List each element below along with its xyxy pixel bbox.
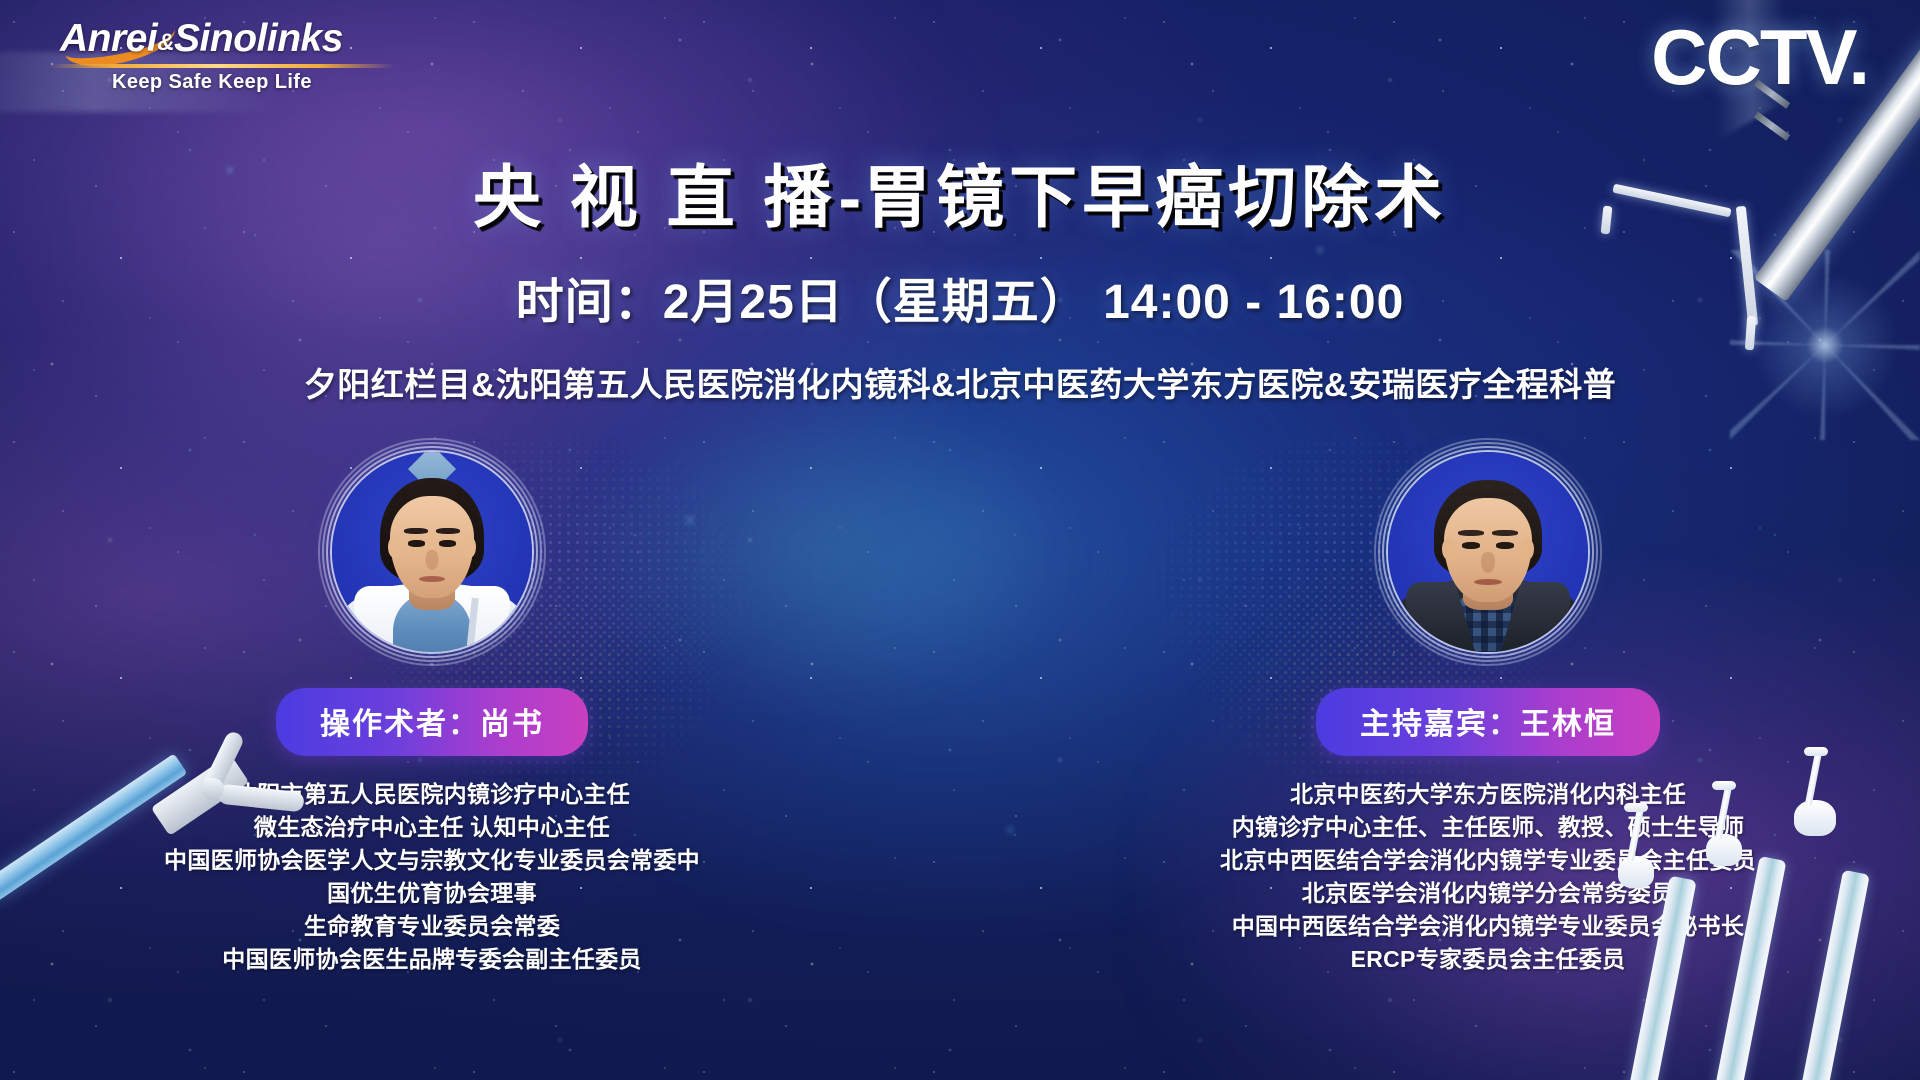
eye-right	[439, 540, 456, 547]
list-item: 中国医师协会医学人文与宗教文化专业委员会常委中	[112, 844, 752, 877]
list-item: 生命教育专业委员会常委	[112, 910, 752, 943]
cctv-logo: CCTV.	[1651, 14, 1868, 100]
ear-left	[388, 536, 401, 558]
list-item: 国优生优育协会理事	[112, 877, 752, 910]
brand-wordmark-sinolinks: Sinolinks	[174, 17, 343, 60]
brand-logo-anrei-sinolinks: Anrei&Sinolinks Keep Safe Keep Life	[60, 16, 380, 94]
brand-wordmark-anrei: Anrei	[60, 17, 157, 60]
eye-left	[1462, 542, 1480, 549]
credential-list: 北京中医药大学东方医院消化内科主任 内镜诊疗中心主任、主任医师、教授、硕士生导师…	[1168, 778, 1808, 976]
mouth	[419, 576, 445, 582]
nose	[1481, 552, 1495, 573]
status-badge-operator: 操作术者：尚书	[276, 688, 588, 756]
eyebrow-left	[404, 528, 428, 534]
avatar-photo-host	[1388, 452, 1588, 652]
credential-list: 沈阳市第五人民医院内镜诊疗中心主任 微生态治疗中心主任 认知中心主任 中国医师协…	[112, 778, 752, 976]
list-item: 北京中医药大学东方医院消化内科主任	[1168, 778, 1808, 811]
poster-canvas: Anrei&Sinolinks Keep Safe Keep Life CCTV…	[0, 0, 1920, 1080]
nose	[426, 550, 439, 570]
face	[390, 496, 474, 598]
mouth	[1474, 579, 1502, 585]
page-title-main: 央 视 直 播	[473, 160, 837, 236]
eyebrow-right	[436, 528, 460, 534]
eye-right	[1496, 542, 1514, 549]
list-item: 北京中西医结合学会消化内镜学专业委员会主任委员	[1168, 844, 1808, 877]
list-item: 北京医学会消化内镜学分会常务委员	[1168, 877, 1808, 910]
ear-right	[463, 536, 476, 558]
eyebrow-left	[1458, 530, 1484, 536]
list-item: 沈阳市第五人民医院内镜诊疗中心主任	[112, 778, 752, 811]
list-item: 中国中西医结合学会消化内镜学专业委员会秘书长	[1168, 910, 1808, 943]
list-item: 微生态治疗中心主任 认知中心主任	[112, 811, 752, 844]
brand-wordmark: Anrei&Sinolinks	[60, 16, 380, 66]
brand-tagline: Keep Safe Keep Life	[112, 71, 312, 94]
avatar	[332, 452, 532, 652]
brand-divider-rule	[50, 64, 395, 68]
ear-left	[1442, 538, 1455, 560]
eyebrow-right	[1492, 530, 1518, 536]
page-title-dash: -	[839, 160, 862, 236]
avatar-photo-operator	[332, 452, 532, 652]
person-card-operator: 操作术者：尚书 沈阳市第五人民医院内镜诊疗中心主任 微生态治疗中心主任 认知中心…	[112, 452, 752, 976]
event-time: 时间：2月25日（星期五） 14:00 - 16:00	[0, 262, 1920, 332]
list-item: 中国医师协会医生品牌专委会副主任委员	[112, 943, 752, 976]
face	[1444, 498, 1532, 602]
list-item: ERCP专家委员会主任委员	[1168, 943, 1808, 976]
list-item: 内镜诊疗中心主任、主任医师、教授、硕士生导师	[1168, 811, 1808, 844]
eye-left	[408, 540, 425, 547]
brand-wordmark-ampersand: &	[157, 29, 174, 56]
page-title: 央 视 直 播-胃镜下早癌切除术	[0, 142, 1920, 241]
event-organizers: 夕阳红栏目&沈阳第五人民医院消化内镜科&北京中医药大学东方医院&安瑞医疗全程科普	[0, 358, 1920, 406]
avatar	[1388, 452, 1588, 652]
status-badge-host: 主持嘉宾：王林恒	[1316, 688, 1660, 756]
page-title-sub: 胃镜下早癌切除术	[863, 160, 1447, 236]
ear-right	[1521, 538, 1534, 560]
person-card-host: 主持嘉宾：王林恒 北京中医药大学东方医院消化内科主任 内镜诊疗中心主任、主任医师…	[1168, 452, 1808, 976]
credentials-operator: 沈阳市第五人民医院内镜诊疗中心主任 微生态治疗中心主任 认知中心主任 中国医师协…	[112, 778, 752, 976]
credentials-host: 北京中医药大学东方医院消化内科主任 内镜诊疗中心主任、主任医师、教授、硕士生导师…	[1168, 778, 1808, 976]
